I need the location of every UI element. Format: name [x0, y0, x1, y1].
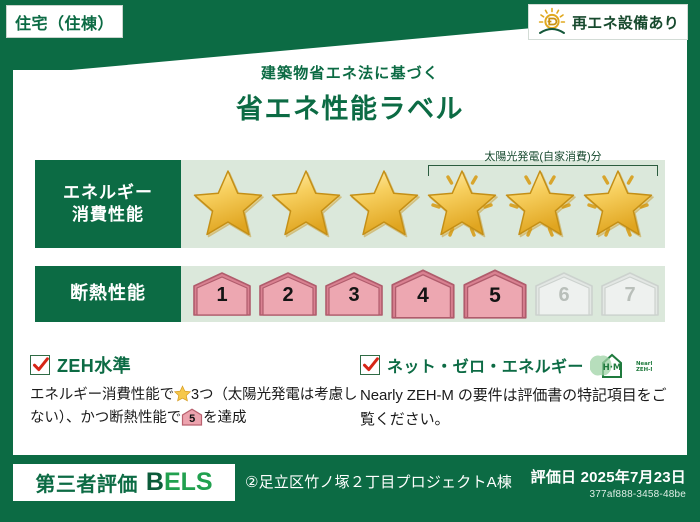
label-title-block: 建築物省エネ法に基づく 省エネ性能ラベル [0, 62, 700, 126]
insulation-label-text: 断熱性能 [70, 282, 146, 305]
zeh-standard-checkbox [30, 355, 50, 375]
star-icon [267, 165, 345, 243]
star-rating-group [181, 160, 665, 248]
building-type-tab: 住宅（住棟） [6, 5, 123, 38]
insulation-level-value: 3 [323, 284, 385, 307]
insulation-level-value: 6 [533, 284, 595, 307]
insulation-level-6: 6 [533, 271, 595, 317]
svg-text:ZEH-M: ZEH-M [636, 367, 652, 373]
insulation-level-group: 1 2 3 4 5 6 [181, 266, 665, 322]
zeh-standard-heading-row: ZEH水準 [30, 352, 360, 378]
insulation-performance-row-body: 1 2 3 4 5 6 [181, 266, 665, 322]
nearly-zeh-m-logo: H·M Nearly ZEH-M [590, 350, 652, 380]
insulation-level-value: 2 [257, 284, 319, 307]
net-zero-heading: ネット・ゼロ・エネルギー [387, 353, 584, 377]
insulation-level-value: 1 [191, 284, 253, 307]
insulation-level-2: 2 [257, 271, 319, 317]
zeh-desc-star-part: 3つ（太陽光発電 [191, 387, 300, 403]
net-zero-description: Nearly ZEH-M の要件は評価書の特記項目をご覧ください。 [360, 384, 670, 432]
building-type-tab-label: 住宅（住棟） [15, 10, 114, 34]
renewable-equipment-label: 再エネ設備あり [572, 12, 679, 33]
zeh-standard-section: ZEH水準 エネルギー消費性能で3つ（太陽光発電は考慮しない）、かつ断熱性能で5… [30, 352, 360, 448]
label-main-title: 省エネ性能ラベル [0, 87, 700, 126]
bels-logo-b: B [146, 468, 164, 497]
net-zero-energy-section: ネット・ゼロ・エネルギー H·M Nearly ZEH-M Nearly ZEH… [360, 352, 670, 448]
insulation-level-value: 7 [599, 284, 661, 307]
insulation-performance-row: 断熱性能 1 2 3 4 [35, 266, 665, 322]
evaluation-id: 377af888-3458-48be [531, 489, 686, 500]
zeh-desc-part3: を達成 [203, 410, 246, 426]
insulation-level-1: 1 [191, 271, 253, 317]
evaluation-date: 評価日 2025年7月23日 [531, 466, 686, 487]
energy-performance-row: エネルギー 消費性能 [35, 160, 665, 248]
insulation-level-3: 3 [323, 271, 385, 317]
insulation-level-value: 5 [461, 284, 529, 308]
inline-house-level-value: 5 [181, 411, 203, 429]
net-zero-checkbox [360, 355, 380, 375]
renewable-equipment-badge: 再エネ設備あり [528, 4, 688, 40]
evaluation-info: 評価日 2025年7月23日 377af888-3458-48be [531, 466, 686, 500]
star-icon [579, 165, 657, 243]
energy-performance-row-body [181, 160, 665, 248]
star-icon [423, 165, 501, 243]
label-footer: 第三者評価 B ELS ②足立区竹ノ塚２丁目プロジェクトA棟 評価日 2025年… [0, 460, 700, 522]
insulation-level-4: 4 [389, 268, 457, 320]
star-icon [189, 165, 267, 243]
insulation-performance-row-label: 断熱性能 [35, 266, 181, 322]
svg-text:H·M: H·M [602, 363, 621, 373]
star-icon [501, 165, 579, 243]
label-subtitle: 建築物省エネ法に基づく [0, 62, 700, 83]
bels-third-party-badge: 第三者評価 B ELS [13, 464, 235, 501]
bels-logo-els: ELS [164, 468, 213, 497]
inline-house-level-icon: 5 [181, 408, 203, 426]
insulation-level-5: 5 [461, 268, 529, 320]
inline-star-icon [174, 385, 191, 402]
building-name: ②足立区竹ノ塚２丁目プロジェクトA棟 [245, 471, 512, 492]
energy-label-line2: 消費性能 [72, 204, 144, 226]
energy-label-line1: エネルギー [63, 182, 153, 204]
insulation-level-value: 4 [389, 284, 457, 308]
zeh-desc-part1: エネルギー消費性能で [30, 387, 174, 403]
net-zero-heading-row: ネット・ゼロ・エネルギー H·M Nearly ZEH-M [360, 352, 670, 378]
criteria-columns: ZEH水準 エネルギー消費性能で3つ（太陽光発電は考慮しない）、かつ断熱性能で5… [30, 352, 670, 448]
energy-performance-label: 住宅（住棟） 再エネ設備あり 建築 [0, 0, 700, 522]
zeh-standard-description: エネルギー消費性能で3つ（太陽光発電は考慮しない）、かつ断熱性能で5を達成 [30, 384, 360, 431]
bels-third-party-text: 第三者評価 [35, 468, 138, 497]
energy-performance-row-label: エネルギー 消費性能 [35, 160, 181, 248]
sun-renewable-icon [535, 7, 569, 37]
star-icon [345, 165, 423, 243]
zeh-standard-heading: ZEH水準 [57, 352, 131, 378]
insulation-level-7: 7 [599, 271, 661, 317]
